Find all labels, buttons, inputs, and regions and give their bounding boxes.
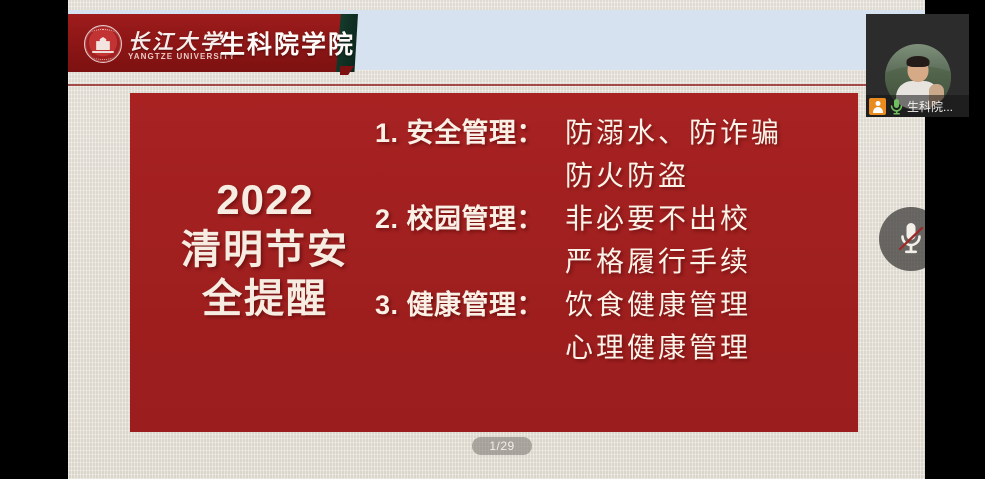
participant-name-bar: 生科院... (866, 95, 969, 117)
participant-tile[interactable]: 生科院... (866, 14, 969, 117)
list-item-continuation: 严格履行手续 (375, 240, 845, 283)
person-badge-icon (869, 98, 886, 115)
slide-title-line2: 全提醒 (150, 276, 380, 323)
item-value: 防溺水、防诈骗 (565, 111, 845, 151)
list-item: 1. 安全管理： 防溺水、防诈骗 (375, 111, 845, 154)
list-item-continuation: 心理健康管理 (375, 326, 845, 369)
university-seal-icon (84, 25, 122, 63)
screen-share-viewport: 长江大学 YANGTZE UNIVERSITY 生科院学院 2022 清明节安 … (0, 0, 985, 479)
list-item: 3. 健康管理： 饮食健康管理 (375, 283, 845, 326)
page-indicator: 1/29 (472, 437, 532, 455)
college-name: 生科院学院 (220, 25, 355, 61)
item-label: 1. 安全管理： (375, 111, 565, 150)
slide-content-card: 2022 清明节安 全提醒 1. 安全管理： 防溺水、防诈骗 防火防盗 2. 校… (130, 93, 858, 432)
slide-items-list: 1. 安全管理： 防溺水、防诈骗 防火防盗 2. 校园管理： 非必要不出校 严格… (375, 111, 845, 369)
list-item-continuation: 防火防盗 (375, 154, 845, 197)
slide-title-year: 2022 (150, 175, 380, 225)
item-label: 3. 健康管理： (375, 283, 565, 322)
item-value: 防火防盗 (565, 154, 845, 194)
list-item: 2. 校园管理： 非必要不出校 (375, 197, 845, 240)
slide-header-banner: 长江大学 YANGTZE UNIVERSITY 生科院学院 (68, 14, 368, 72)
shared-slide: 长江大学 YANGTZE UNIVERSITY 生科院学院 2022 清明节安 … (68, 0, 925, 479)
microphone-muted-icon (896, 220, 925, 258)
header-divider (68, 84, 925, 86)
microphone-active-icon (890, 98, 903, 115)
item-value: 心理健康管理 (565, 326, 845, 366)
mute-button[interactable] (879, 207, 925, 271)
item-value: 饮食健康管理 (565, 283, 845, 323)
participant-name: 生科院... (907, 98, 953, 115)
item-value: 严格履行手续 (565, 240, 845, 280)
item-label: 2. 校园管理： (375, 197, 565, 236)
slide-title-block: 2022 清明节安 全提醒 (150, 175, 380, 323)
slide-title-line1: 清明节安 (150, 227, 380, 274)
item-value: 非必要不出校 (565, 197, 845, 237)
